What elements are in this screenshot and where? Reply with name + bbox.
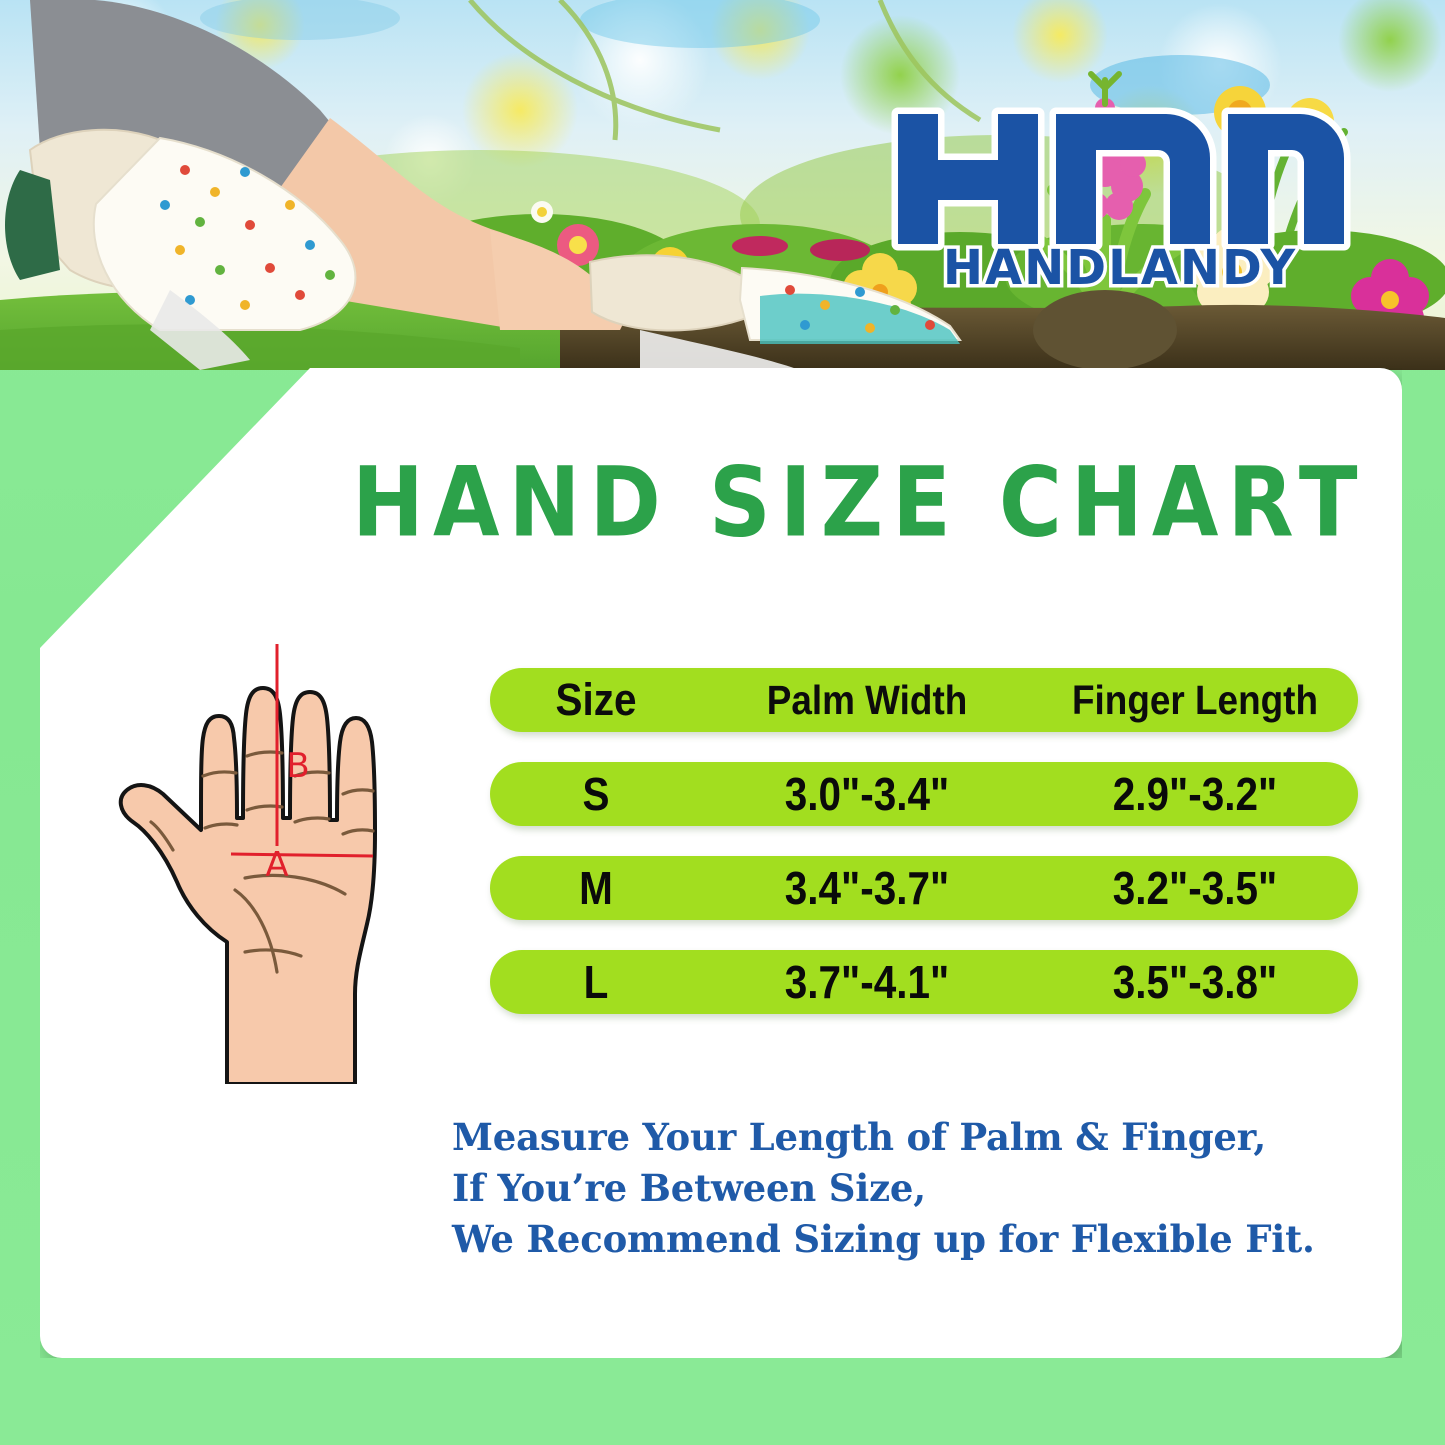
cell-palm-width: 3.7"-4.1"	[722, 955, 1012, 1009]
measure-label-a: A	[265, 845, 288, 885]
cell-finger-length: 2.9"-3.2"	[1052, 767, 1339, 821]
header-finger-length: Finger Length	[1048, 677, 1341, 724]
cell-finger-length: 3.5"-3.8"	[1052, 955, 1339, 1009]
header-palm-width: Palm Width	[719, 677, 1016, 724]
cell-palm-width: 3.4"-3.7"	[722, 861, 1012, 915]
brand-logo: HANDLANDY	[880, 92, 1360, 292]
sizing-note-line-3: We Recommend Sizing up for Flexible Fit.	[452, 1214, 1352, 1265]
hand-illustration: A B	[105, 632, 483, 1084]
hand-outline	[121, 688, 375, 1084]
cell-size: M	[503, 861, 690, 915]
sizing-note-line-2: If You’re Between Size,	[452, 1163, 1352, 1214]
size-chart-canvas: HANDLANDY HAND SIZE CHART	[0, 0, 1445, 1445]
sizing-note: Measure Your Length of Palm & Finger, If…	[452, 1112, 1352, 1265]
sizing-note-line-1: Measure Your Length of Palm & Finger,	[452, 1112, 1352, 1163]
measure-label-b: B	[286, 746, 309, 786]
cell-palm-width: 3.0"-3.4"	[722, 767, 1012, 821]
hand-measurement-diagram: A B	[105, 632, 483, 1084]
cell-size: L	[503, 955, 690, 1009]
brand-wordmark: HANDLANDY	[943, 240, 1297, 292]
size-table: Size Palm Width Finger Length S 3.0"-3.4…	[490, 668, 1358, 1014]
cell-finger-length: 3.2"-3.5"	[1052, 861, 1339, 915]
header-size: Size	[501, 674, 692, 726]
table-header-row: Size Palm Width Finger Length	[490, 668, 1358, 732]
table-row: L 3.7"-4.1" 3.5"-3.8"	[490, 950, 1358, 1014]
cell-size: S	[503, 767, 690, 821]
measure-line-a	[231, 854, 373, 856]
table-row: S 3.0"-3.4" 2.9"-3.2"	[490, 762, 1358, 826]
table-row: M 3.4"-3.7" 3.2"-3.5"	[490, 856, 1358, 920]
handlandy-logo-mark: HANDLANDY	[880, 92, 1360, 292]
page-title: HAND SIZE CHART	[352, 447, 1352, 559]
